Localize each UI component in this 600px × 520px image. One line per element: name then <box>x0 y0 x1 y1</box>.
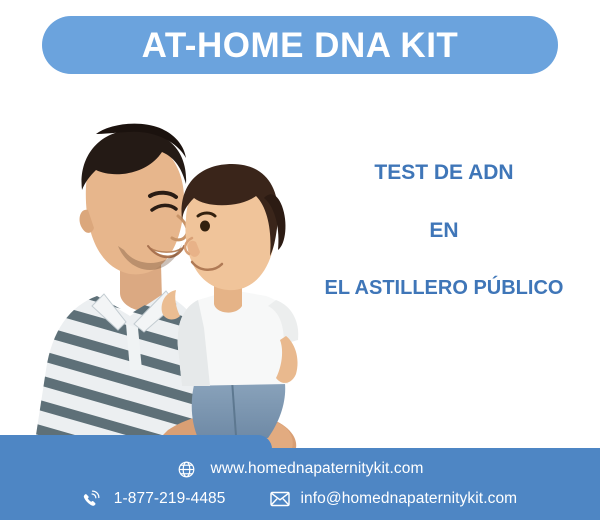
website-label: www.homednapaternitykit.com <box>211 460 424 478</box>
headline-block: TEST DE ADN EN EL ASTILLERO PúBLICO <box>288 160 600 300</box>
phone-icon <box>83 489 103 509</box>
dna-kit-banner: AT-HOME DNA KIT <box>0 0 600 520</box>
page-title: AT-HOME DNA KIT <box>142 28 459 63</box>
family-photo <box>0 78 330 448</box>
family-photo-illustration <box>0 78 330 448</box>
header-pill: AT-HOME DNA KIT <box>42 16 558 74</box>
headline-line-1: TEST DE ADN <box>288 160 600 185</box>
footer-website-row[interactable]: www.homednapaternitykit.com <box>0 459 600 479</box>
footer-phone-item[interactable]: 1-877-219-4485 <box>83 489 226 509</box>
contact-footer: www.homednapaternitykit.com 1-877-219-44… <box>0 435 600 520</box>
headline-line-2: EN <box>288 218 600 243</box>
envelope-icon <box>270 489 290 509</box>
footer-email-item[interactable]: info@homednapaternitykit.com <box>270 489 518 509</box>
phone-label: 1-877-219-4485 <box>114 490 226 508</box>
email-label: info@homednapaternitykit.com <box>301 490 518 508</box>
globe-icon <box>177 459 197 479</box>
footer-contact-rows: www.homednapaternitykit.com 1-877-219-44… <box>0 435 600 520</box>
footer-contact-row: 1-877-219-4485 info@homednapaternitykit.… <box>0 489 600 509</box>
headline-line-3: EL ASTILLERO PúBLICO <box>288 276 600 300</box>
